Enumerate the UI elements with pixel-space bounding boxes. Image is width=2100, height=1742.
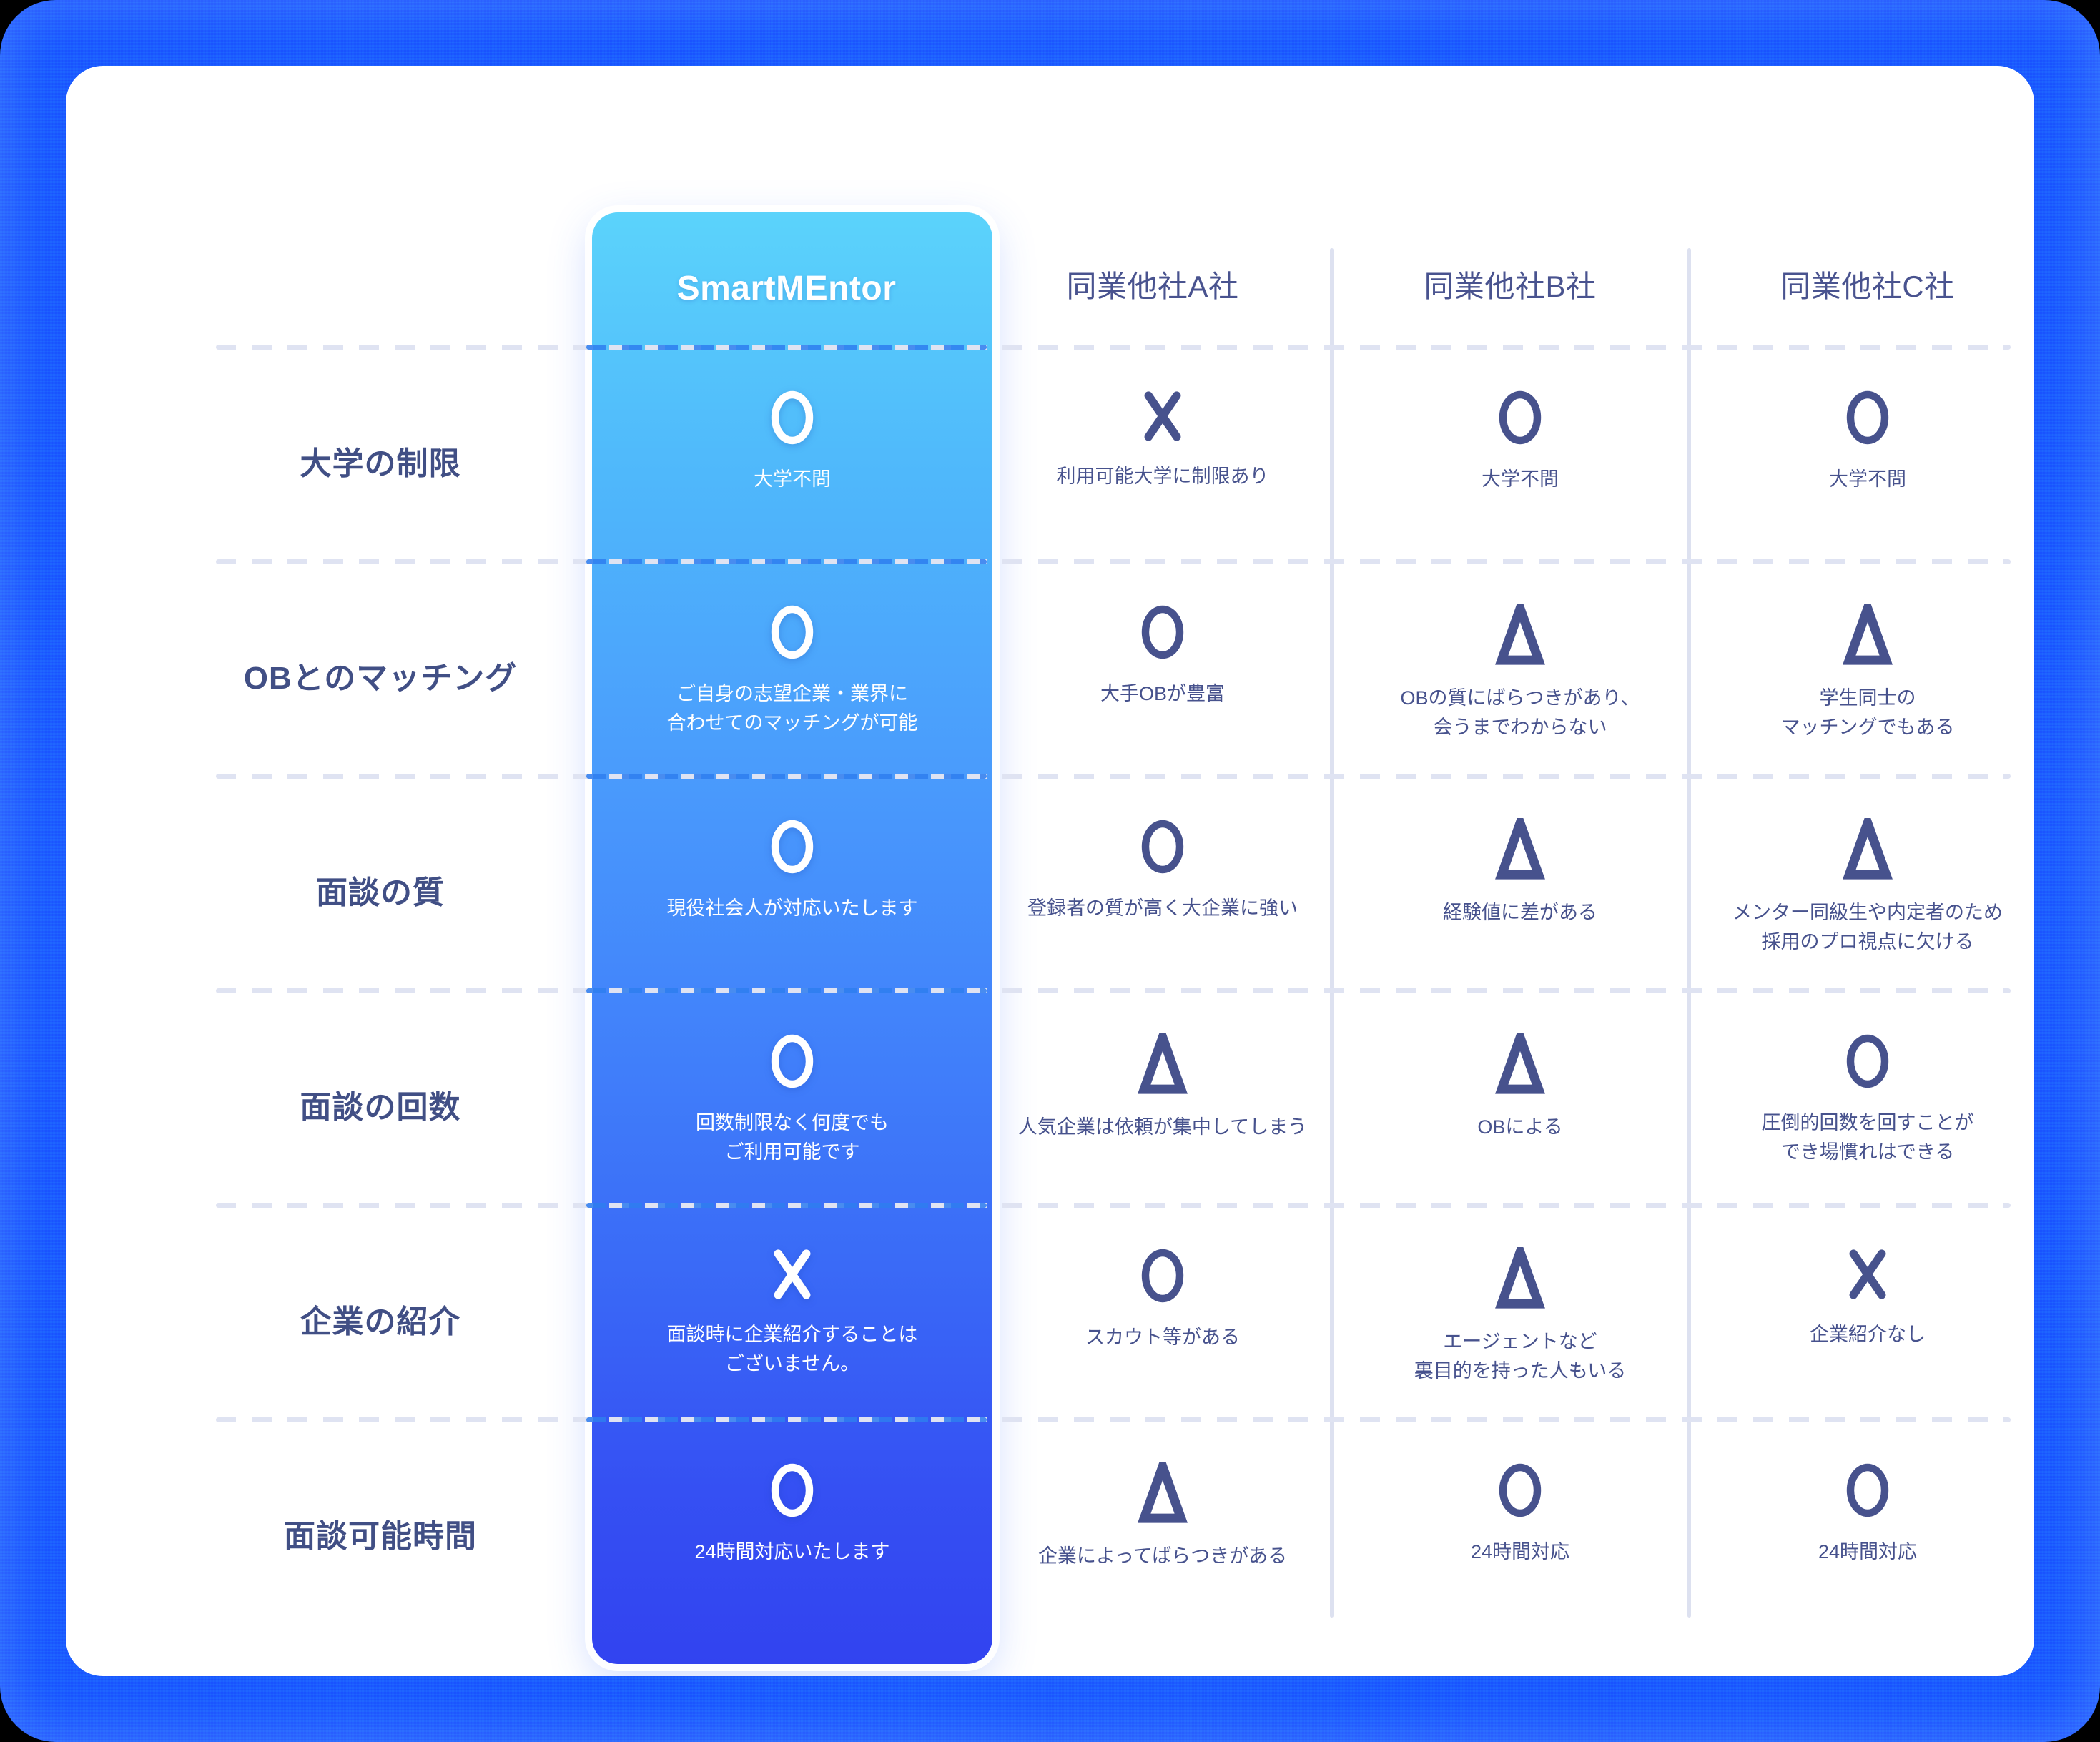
cell-description: 人気企業は依頼が集中してしまう — [1018, 1113, 1307, 1142]
comparison-cell: 圧倒的回数を回すことが でき場慣れはできる — [1710, 1033, 2025, 1166]
triangle-icon — [1489, 604, 1551, 665]
comparison-cell: 大学不問 — [1710, 389, 2025, 494]
row-divider-4 — [216, 988, 2011, 993]
comparison-cell: 現役社会人が対応いたします — [592, 818, 992, 923]
comparison-cell: 学生同士の マッチングでもある — [1710, 604, 2025, 742]
comparison-cell: メンター同級生や内定者のため 採用のプロ視点に欠ける — [1710, 818, 2025, 956]
header-cell-smartmentor: SmartMEntor — [586, 257, 987, 319]
cell-description: 企業によってばらつきがある — [1038, 1542, 1287, 1571]
comparison-cell: 企業によってばらつきがある — [995, 1462, 1330, 1571]
row-label-0: 大学の制限 — [180, 389, 581, 532]
circle-icon — [1492, 1462, 1549, 1519]
triangle-icon — [1489, 1033, 1551, 1094]
cell-description: エージェントなど 裏目的を持った人もいる — [1414, 1327, 1626, 1385]
header-cell-label — [180, 253, 581, 315]
cross-icon — [765, 1247, 819, 1301]
circle-icon — [764, 818, 821, 875]
circle-icon — [1839, 1033, 1896, 1090]
header-cell-company-a: 同業他社A社 — [995, 253, 1310, 315]
cell-description: ご自身の志望企業・業界に 合わせてのマッチングが可能 — [667, 679, 918, 737]
row-divider-1 — [216, 345, 2011, 350]
circle-icon — [1839, 1462, 1896, 1519]
cross-icon — [1840, 1247, 1895, 1301]
comparison-cell: 面談時に企業紹介することは ございません。 — [592, 1247, 992, 1378]
triangle-icon — [1837, 604, 1898, 665]
cell-description: 大学不問 — [1829, 465, 1906, 494]
triangle-icon — [1132, 1462, 1193, 1523]
comparison-cell: 24時間対応いたします — [592, 1462, 992, 1567]
row-divider-2 — [216, 559, 2011, 564]
comparison-sheet: SmartMEntor 同業他社A社 同業他社B社 同業他社C社 大学の制限 O… — [66, 66, 2034, 1676]
comparison-cell: ご自身の志望企業・業界に 合わせてのマッチングが可能 — [592, 604, 992, 737]
column-divider-b-c — [1687, 248, 1691, 1618]
circle-icon — [1839, 389, 1896, 446]
cell-description: 24時間対応 — [1471, 1537, 1569, 1567]
cell-description: 大手OBが豊富 — [1100, 679, 1225, 709]
row-divider-6 — [216, 1417, 2011, 1422]
comparison-cell: スカウト等がある — [995, 1247, 1330, 1352]
column-divider-a-b — [1330, 248, 1334, 1618]
cell-description: 24時間対応いたします — [694, 1537, 889, 1567]
cell-description: OBの質にばらつきがあり、 会うまでわからない — [1401, 684, 1640, 742]
cell-description: 大学不問 — [1482, 465, 1559, 494]
cross-icon — [1135, 389, 1190, 443]
cell-description: 学生同士の マッチングでもある — [1781, 684, 1955, 742]
circle-icon — [1134, 1247, 1191, 1304]
comparison-cell: 大学不問 — [592, 389, 992, 494]
comparison-cell: 回数制限なく何度でも ご利用可能です — [592, 1033, 992, 1166]
header-cell-company-c: 同業他社C社 — [1710, 253, 2025, 315]
cell-description: 面談時に企業紹介することは ございません。 — [667, 1320, 918, 1378]
cell-description: 24時間対応 — [1818, 1537, 1917, 1567]
cell-description: スカウト等がある — [1085, 1323, 1240, 1352]
circle-icon — [1134, 818, 1191, 875]
comparison-cell: OBの質にばらつきがあり、 会うまでわからない — [1353, 604, 1687, 742]
circle-icon — [764, 389, 821, 446]
row-label-1: OBとのマッチング — [180, 604, 581, 747]
triangle-icon — [1837, 818, 1898, 880]
row-label-4: 企業の紹介 — [180, 1247, 581, 1390]
comparison-cell: 24時間対応 — [1353, 1462, 1687, 1567]
cell-description: 現役社会人が対応いたします — [667, 894, 918, 923]
row-label-5: 面談可能時間 — [180, 1462, 581, 1605]
comparison-cell: 大手OBが豊富 — [995, 604, 1330, 709]
cell-description: 企業紹介なし — [1810, 1320, 1926, 1349]
cell-description: OBによる — [1477, 1113, 1562, 1142]
comparison-cell: 企業紹介なし — [1710, 1247, 2025, 1349]
row-label-3: 面談の回数 — [180, 1033, 581, 1176]
circle-icon — [1492, 389, 1549, 446]
glowing-frame: SmartMEntor 同業他社A社 同業他社B社 同業他社C社 大学の制限 O… — [0, 0, 2100, 1742]
comparison-cell: 経験値に差がある — [1353, 818, 1687, 927]
circle-icon — [764, 1462, 821, 1519]
row-label-2: 面談の質 — [180, 818, 581, 961]
header-cell-company-b: 同業他社B社 — [1353, 253, 1667, 315]
comparison-cell: 大学不問 — [1353, 389, 1687, 494]
cell-description: 圧倒的回数を回すことが でき場慣れはできる — [1762, 1108, 1974, 1166]
circle-icon — [764, 1033, 821, 1090]
triangle-icon — [1132, 1033, 1193, 1094]
cell-description: メンター同級生や内定者のため 採用のプロ視点に欠ける — [1732, 898, 2003, 956]
comparison-cell: 登録者の質が高く大企業に強い — [995, 818, 1330, 923]
cell-description: 利用可能大学に制限あり — [1057, 462, 1269, 491]
circle-icon — [764, 604, 821, 661]
cell-description: 登録者の質が高く大企業に強い — [1027, 894, 1298, 923]
row-divider-5 — [216, 1203, 2011, 1208]
cell-description: 経験値に差がある — [1443, 898, 1597, 927]
comparison-cell: 24時間対応 — [1710, 1462, 2025, 1567]
triangle-icon — [1489, 818, 1551, 880]
comparison-cell: 利用可能大学に制限あり — [995, 389, 1330, 491]
comparison-cell: 人気企業は依頼が集中してしまう — [995, 1033, 1330, 1142]
circle-icon — [1134, 604, 1191, 661]
cell-description: 回数制限なく何度でも ご利用可能です — [696, 1108, 889, 1166]
triangle-icon — [1489, 1247, 1551, 1309]
cell-description: 大学不問 — [754, 465, 831, 494]
row-divider-3 — [216, 774, 2011, 779]
comparison-cell: OBによる — [1353, 1033, 1687, 1142]
comparison-cell: エージェントなど 裏目的を持った人もいる — [1353, 1247, 1687, 1385]
